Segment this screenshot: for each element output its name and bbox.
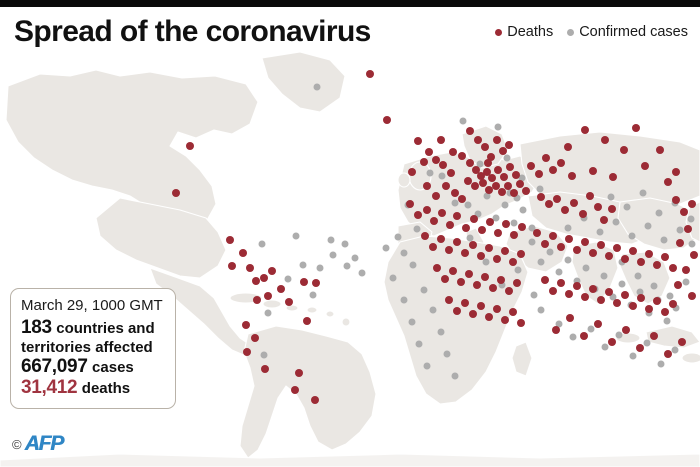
confirmed-case-dot [401, 297, 408, 304]
death-dot [420, 158, 428, 166]
dot-icon [495, 29, 502, 36]
confirmed-case-dot [689, 241, 696, 248]
death-dot [493, 136, 501, 144]
death-dot [510, 189, 518, 197]
death-dot [469, 241, 477, 249]
death-dot [650, 332, 658, 340]
death-dot [622, 326, 630, 334]
confirmed-case-dot [438, 329, 445, 336]
death-dot [545, 200, 553, 208]
confirmed-case-dot [285, 276, 292, 283]
confirmed-case-dot [570, 334, 577, 341]
death-dot [645, 250, 653, 258]
death-dot [406, 200, 414, 208]
death-dot [445, 246, 453, 254]
confirmed-case-dot [531, 292, 538, 299]
death-dot [506, 163, 514, 171]
confirmed-case-dot [465, 202, 472, 209]
confirmed-case-dot [588, 326, 595, 333]
death-dot [477, 252, 485, 260]
legend-item-confirmed-cases: Confirmed cases [567, 24, 688, 40]
death-dot [527, 162, 535, 170]
death-dot [510, 231, 518, 239]
death-dot [674, 281, 682, 289]
death-dot [676, 239, 684, 247]
death-dot [684, 225, 692, 233]
confirmed-case-dot [635, 273, 642, 280]
confirmed-case-dot [452, 373, 459, 380]
death-dot [408, 168, 416, 176]
death-dot [597, 296, 605, 304]
confirmed-case-dot [421, 287, 428, 294]
death-dot [486, 218, 494, 226]
confirmed-case-dot [651, 283, 658, 290]
death-dot [549, 166, 557, 174]
death-dot [494, 229, 502, 237]
confirmed-case-dot [672, 347, 679, 354]
death-dot [300, 278, 308, 286]
death-dot [565, 290, 573, 298]
confirmed-case-dot [314, 84, 321, 91]
death-dot [664, 178, 672, 186]
death-dot [632, 124, 640, 132]
death-dot [461, 249, 469, 257]
death-dot [513, 279, 521, 287]
death-dot [518, 223, 526, 231]
death-dot [474, 136, 482, 144]
death-dot [453, 238, 461, 246]
death-dot [470, 215, 478, 223]
confirmed-case-dot [645, 223, 652, 230]
death-dot [383, 116, 391, 124]
death-dot [466, 127, 474, 135]
confirmed-case-dot [661, 237, 668, 244]
death-dot [573, 282, 581, 290]
confirmed-case-dot [310, 292, 317, 299]
death-dot [537, 193, 545, 201]
death-dot [458, 195, 466, 203]
death-dot [252, 277, 260, 285]
death-dot [277, 285, 285, 293]
death-dot [421, 232, 429, 240]
page-title: Spread of the coronavirus [14, 14, 444, 50]
confirmed-case-dot [683, 279, 690, 286]
confirmed-case-dot [688, 216, 695, 223]
death-dot [568, 172, 576, 180]
death-dot [672, 196, 680, 204]
confirmed-case-dot [624, 204, 631, 211]
death-dot [251, 334, 259, 342]
death-dot [228, 262, 236, 270]
confirmed-case-dot [619, 281, 626, 288]
legend-label-confirmed-cases: Confirmed cases [579, 24, 688, 40]
death-dot [432, 156, 440, 164]
confirmed-case-dot [444, 351, 451, 358]
confirmed-case-dot [342, 241, 349, 248]
death-dot [517, 250, 525, 258]
death-dot [437, 136, 445, 144]
death-dot [594, 320, 602, 328]
death-dot [664, 350, 672, 358]
death-dot [620, 146, 628, 154]
death-dot [453, 212, 461, 220]
confirmed-case-dot [424, 363, 431, 370]
death-dot [449, 267, 457, 275]
confirmed-case-dot [556, 269, 563, 276]
death-dot [573, 246, 581, 254]
death-dot [493, 255, 501, 263]
confirmed-case-dot [538, 259, 545, 266]
afp-credit: © AFP [12, 432, 63, 456]
death-dot [477, 302, 485, 310]
death-dot [430, 217, 438, 225]
death-dot [502, 220, 510, 228]
death-dot [414, 211, 422, 219]
confirmed-case-dot [317, 265, 324, 272]
confirmed-case-dot [495, 124, 502, 131]
death-dot [535, 170, 543, 178]
death-dot [172, 189, 180, 197]
death-dot [512, 171, 520, 179]
death-dot [497, 276, 505, 284]
confirmed-case-dot [538, 307, 545, 314]
death-dot [429, 243, 437, 251]
confirmed-case-dot [630, 353, 637, 360]
death-dot [678, 338, 686, 346]
death-dot [557, 243, 565, 251]
confirmed-case-dot [409, 319, 416, 326]
death-dot [581, 293, 589, 301]
death-dot [462, 224, 470, 232]
confirmed-case-dot [328, 237, 335, 244]
death-dot [453, 307, 461, 315]
death-dot [505, 287, 513, 295]
death-dot [285, 298, 293, 306]
death-dot [557, 279, 565, 287]
death-dot [517, 319, 525, 327]
death-dot [501, 247, 509, 255]
confirmed-case-dot [515, 267, 522, 274]
death-dot [570, 199, 578, 207]
confirmed-case-dot [502, 202, 509, 209]
death-dot [439, 161, 447, 169]
death-dot [552, 326, 560, 334]
confirmed-case-dot [359, 270, 366, 277]
death-dot [613, 244, 621, 252]
confirmed-case-dot [265, 310, 272, 317]
death-dot [226, 236, 234, 244]
copyright-icon: © [12, 437, 22, 452]
confirmed-case-dot [430, 307, 437, 314]
death-dot [243, 348, 251, 356]
death-dot [637, 258, 645, 266]
death-dot [581, 126, 589, 134]
death-dot [447, 169, 455, 177]
death-dot [566, 314, 574, 322]
death-dot [291, 386, 299, 394]
death-dot [295, 369, 303, 377]
death-dot [629, 302, 637, 310]
legend-label-deaths: Deaths [507, 24, 553, 40]
death-dot [488, 174, 496, 182]
confirmed-case-dot [537, 186, 544, 193]
death-dot [621, 255, 629, 263]
death-dot [629, 247, 637, 255]
confirmed-case-dot [390, 275, 397, 282]
death-dot [432, 192, 440, 200]
death-dot [661, 308, 669, 316]
death-dot [549, 232, 557, 240]
confirmed-case-dot [658, 361, 665, 368]
confirmed-case-dot [629, 233, 636, 240]
confirmed-case-dot [427, 170, 434, 177]
death-dot [637, 294, 645, 302]
death-dot [672, 168, 680, 176]
confirmed-case-dot [597, 229, 604, 236]
death-dot [613, 299, 621, 307]
death-dot [564, 143, 572, 151]
death-dot [242, 321, 250, 329]
confirmed-case-dot [616, 332, 623, 339]
death-dot [589, 167, 597, 175]
confirmed-case-dot [608, 194, 615, 201]
map-legend: Deaths Confirmed cases [495, 24, 688, 40]
death-dot [581, 238, 589, 246]
death-dot [505, 141, 513, 149]
death-dot [260, 274, 268, 282]
confirmed-case-dot [439, 173, 446, 180]
death-dot [565, 235, 573, 243]
death-dot [533, 229, 541, 237]
death-dot [661, 253, 669, 261]
death-dot [579, 210, 587, 218]
confirmed-case-dot [261, 352, 268, 359]
death-dot [549, 287, 557, 295]
infographic-root: Spread of the coronavirus Deaths Confirm… [0, 0, 700, 467]
death-dot [600, 216, 608, 224]
confirmed-case-dot [344, 263, 351, 270]
death-dot [636, 344, 644, 352]
death-dot [481, 273, 489, 281]
death-dot [605, 252, 613, 260]
death-dot [449, 148, 457, 156]
confirmed-case-dot [511, 220, 518, 227]
dot-icon [567, 29, 574, 36]
death-dot [561, 206, 569, 214]
death-dot [311, 396, 319, 404]
death-dot [580, 332, 588, 340]
death-dot [423, 182, 431, 190]
death-dot [688, 292, 696, 300]
infobox-cases: 667,097 cases [21, 357, 165, 378]
death-dot [522, 187, 530, 195]
confirmed-case-dot [601, 273, 608, 280]
death-dot [586, 192, 594, 200]
death-dot [246, 264, 254, 272]
death-dot [688, 200, 696, 208]
death-dot [501, 316, 509, 324]
death-dot [553, 195, 561, 203]
confirmed-case-dot [414, 226, 421, 233]
infobox-deaths: 31,412 deaths [21, 378, 165, 399]
death-dot [608, 338, 616, 346]
death-dot [414, 137, 422, 145]
countries-label-2: territories affected [21, 339, 165, 357]
death-dot [261, 365, 269, 373]
death-dot [500, 173, 508, 181]
death-dot [264, 292, 272, 300]
death-dot [441, 275, 449, 283]
death-dot [690, 251, 698, 259]
confirmed-case-dot [300, 262, 307, 269]
death-dot [239, 249, 247, 257]
death-dot [656, 146, 664, 154]
death-dot [597, 241, 605, 249]
death-dot [669, 264, 677, 272]
death-dot [433, 264, 441, 272]
death-dot [542, 154, 550, 162]
death-dot [425, 148, 433, 156]
death-dot [653, 261, 661, 269]
confirmed-case-dot [547, 249, 554, 256]
confirmed-case-dot [401, 250, 408, 257]
confirmed-case-dot [677, 227, 684, 234]
death-dot [557, 159, 565, 167]
death-dot [469, 310, 477, 318]
death-dot [669, 300, 677, 308]
confirmed-case-dot [664, 318, 671, 325]
confirmed-case-dot [565, 225, 572, 232]
infobox-date: March 29, 1000 GMT [21, 296, 165, 316]
cases-count: 667,097 [21, 356, 88, 377]
top-rule-divider [0, 0, 700, 7]
countries-count: 183 [21, 317, 52, 338]
death-dot [481, 143, 489, 151]
confirmed-case-dot [504, 155, 511, 162]
death-dot [541, 240, 549, 248]
death-dot [461, 299, 469, 307]
confirmed-case-dot [259, 241, 266, 248]
death-dot [609, 173, 617, 181]
death-dot [303, 317, 311, 325]
death-dot [621, 291, 629, 299]
confirmed-case-dot [583, 265, 590, 272]
confirmed-case-dot [395, 234, 402, 241]
death-dot [253, 296, 261, 304]
deaths-label: deaths [82, 380, 130, 397]
death-dot [605, 288, 613, 296]
confirmed-case-dot [410, 262, 417, 269]
death-dot [509, 308, 517, 316]
confirmed-case-dot [656, 210, 663, 217]
death-dot [493, 305, 501, 313]
death-dot [641, 162, 649, 170]
death-dot [478, 226, 486, 234]
confirmed-case-dot [383, 245, 390, 252]
death-dot [458, 152, 466, 160]
cases-label: cases [92, 359, 134, 376]
confirmed-case-dot [565, 257, 572, 264]
death-dot [653, 297, 661, 305]
death-dot [442, 182, 450, 190]
confirmed-case-dot [460, 118, 467, 125]
infobox-countries: 183 countries and territories affected [21, 318, 165, 357]
death-dot [366, 70, 374, 78]
death-dot [682, 266, 690, 274]
confirmed-case-dot [483, 259, 490, 266]
confirmed-case-dot [602, 344, 609, 351]
confirmed-case-dot [644, 340, 651, 347]
death-dot [601, 136, 609, 144]
death-dot [268, 267, 276, 275]
death-dot [509, 258, 517, 266]
death-dot [465, 270, 473, 278]
confirmed-case-dot [330, 252, 337, 259]
death-dot [485, 313, 493, 321]
death-dot [680, 208, 688, 216]
confirmed-case-dot [352, 255, 359, 262]
death-dot [485, 244, 493, 252]
death-dot [186, 142, 194, 150]
summary-infobox: March 29, 1000 GMT 183 countries and ter… [10, 288, 176, 409]
confirmed-case-dot [667, 293, 674, 300]
death-dot [484, 159, 492, 167]
death-dot [589, 249, 597, 257]
death-dot [445, 296, 453, 304]
death-dot [473, 281, 481, 289]
death-dot [457, 278, 465, 286]
deaths-count: 31,412 [21, 377, 77, 398]
death-dot [423, 206, 431, 214]
death-dot [645, 305, 653, 313]
legend-item-deaths: Deaths [495, 24, 553, 40]
confirmed-case-dot [640, 190, 647, 197]
death-dot [437, 235, 445, 243]
confirmed-case-dot [520, 207, 527, 214]
afp-logo: AFP [25, 432, 63, 456]
death-dot [438, 209, 446, 217]
countries-label: countries and [56, 320, 154, 337]
confirmed-case-dot [416, 341, 423, 348]
confirmed-case-dot [293, 233, 300, 240]
death-dot [594, 203, 602, 211]
death-dot [608, 205, 616, 213]
confirmed-case-dot [613, 219, 620, 226]
death-dot [446, 221, 454, 229]
death-dot [489, 284, 497, 292]
confirmed-case-dot [529, 239, 536, 246]
death-dot [312, 279, 320, 287]
death-dot [471, 182, 479, 190]
death-dot [589, 285, 597, 293]
death-dot [541, 276, 549, 284]
